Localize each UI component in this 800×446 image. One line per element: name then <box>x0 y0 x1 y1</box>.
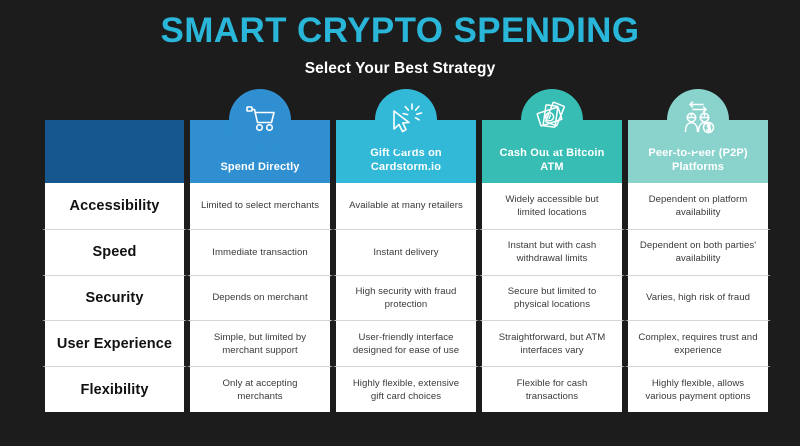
row-label: Flexibility <box>42 366 187 412</box>
shopping-cart-icon <box>229 89 291 151</box>
table-cell: Depends on merchant <box>187 275 333 321</box>
people-exchange-icon <box>667 89 729 151</box>
page-subtitle: Select Your Best Strategy <box>0 59 800 79</box>
table-cell: Immediate transaction <box>187 229 333 275</box>
row-label: User Experience <box>42 320 187 366</box>
table-cell: Limited to select merchants <box>187 183 333 229</box>
row-label: Speed <box>42 229 187 275</box>
cursor-click-icon <box>375 89 437 151</box>
banknotes-icon <box>521 89 583 151</box>
column-header-p2p[interactable]: Peer-to-Peer (P2P) Platforms <box>625 120 771 183</box>
row-label: Accessibility <box>42 183 187 229</box>
table-cell: Instant but with cash withdrawal limits <box>479 229 625 275</box>
table-cell: Complex, requires trust and experience <box>625 320 771 366</box>
titles-block: SMART CRYPTO SPENDING Select Your Best S… <box>0 0 800 79</box>
table-cell: Instant delivery <box>333 229 479 275</box>
table-cell: Simple, but limited by merchant support <box>187 320 333 366</box>
row-label: Security <box>42 275 187 321</box>
table-cell: Flexible for cash transactions <box>479 366 625 412</box>
table-cell: Highly flexible, allows various payment … <box>625 366 771 412</box>
page-title: SMART CRYPTO SPENDING <box>0 11 800 51</box>
table-cell: Only at accepting merchants <box>187 366 333 412</box>
table-cell: Dependent on both parties' availability <box>625 229 771 275</box>
table-cell: High security with fraud protection <box>333 275 479 321</box>
table-cell: Dependent on platform availability <box>625 183 771 229</box>
comparison-grid: Spend Directly Gift Cards on Cardstorm.i… <box>42 120 758 412</box>
column-header-bitcoin-atm[interactable]: Cash Out at Bitcoin ATM <box>479 120 625 183</box>
table-cell: Available at many retailers <box>333 183 479 229</box>
column-header-criteria <box>42 120 187 183</box>
table-cell: Highly flexible, extensive gift card cho… <box>333 366 479 412</box>
table-cell: Varies, high risk of fraud <box>625 275 771 321</box>
column-header-gift-cards[interactable]: Gift Cards on Cardstorm.io <box>333 120 479 183</box>
table-cell: Widely accessible but limited locations <box>479 183 625 229</box>
comparison-table: Spend Directly Gift Cards on Cardstorm.i… <box>42 120 758 412</box>
table-cell: Secure but limited to physical locations <box>479 275 625 321</box>
table-cell: User-friendly interface designed for eas… <box>333 320 479 366</box>
table-cell: Straightforward, but ATM interfaces vary <box>479 320 625 366</box>
column-header-spend-directly[interactable]: Spend Directly <box>187 120 333 183</box>
column-header-label: Spend Directly <box>220 160 299 174</box>
